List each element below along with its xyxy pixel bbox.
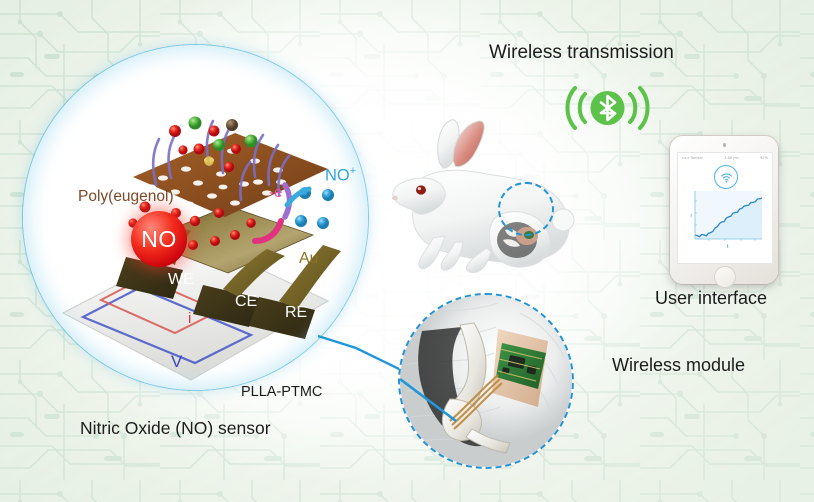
current-label: i [188,310,191,327]
front-camera-icon [723,143,727,147]
plla-ptmc-label: PLLA-PTMC [241,384,322,400]
user-interface-caption: User interface [655,288,767,309]
wifi-signal-icon[interactable] [714,165,738,189]
ce-electrode-label: CE [235,293,257,311]
tablet-screen[interactable]: ••••• Sensor 1:56 pm 92% [677,152,773,264]
sensor-illustration [23,45,368,390]
au-label: Au [299,250,319,268]
status-carrier: ••••• Sensor [682,156,703,160]
svg-text:t: t [727,244,729,250]
svg-text:i: i [691,213,692,219]
sensor-response-chart: i t [687,189,765,251]
electron-label: -e− [269,183,288,201]
home-button[interactable] [714,266,736,288]
no-plus-label: NO+ [325,165,356,186]
status-time: 1:56 pm [724,156,738,160]
re-electrode-label: RE [285,304,307,322]
sensor-schematic-circle: Poly(eugenol) NO -e− NO+ Au WE CE RE i V… [23,45,368,390]
tablet-device[interactable]: ••••• Sensor 1:56 pm 92% [670,136,778,284]
voltage-label: V [171,352,182,372]
status-battery: 92% [760,156,768,160]
poly-eugenol-label: Poly(eugenol) [78,188,174,206]
wireless-module-inset [398,293,574,469]
rabbit-illustration [383,118,608,303]
figure-canvas: Poly(eugenol) NO -e− NO+ Au WE CE RE i V… [0,0,814,502]
no-label: NO [141,226,177,253]
sensor-caption: Nitric Oxide (NO) sensor [80,418,271,439]
wireless-transmission-title: Wireless transmission [489,42,674,64]
implant-site-marker [498,182,554,236]
we-electrode-label: WE [168,271,194,289]
wireless-module-caption: Wireless module [612,355,745,376]
status-bar: ••••• Sensor 1:56 pm 92% [678,153,772,162]
no-molecule-badge: NO [131,211,187,267]
